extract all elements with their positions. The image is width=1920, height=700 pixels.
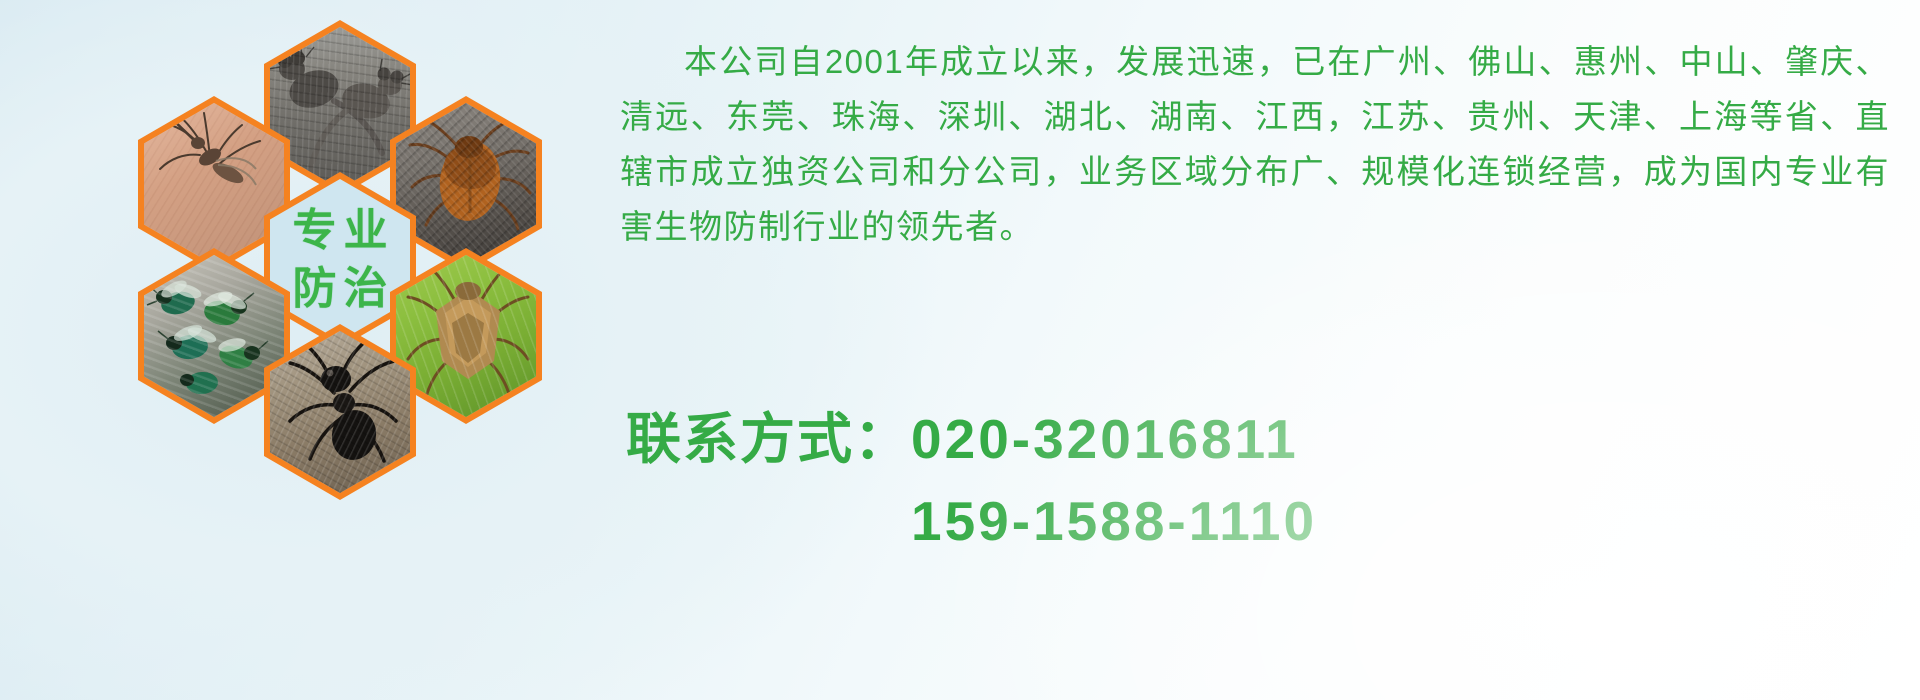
ant-photo: [270, 331, 410, 493]
intro-copy-block: 本公司自2001年成立以来，发展迅速，已在广州、佛山、惠州、中山、肇庆、清远、东…: [620, 34, 1890, 254]
leaf-texture: [396, 255, 536, 417]
flies-texture: [144, 255, 284, 417]
honeycomb-photo-cluster: 专业 防治: [90, 8, 590, 568]
cockroach-photo: [396, 103, 536, 265]
hex-photo-inner: [270, 27, 410, 189]
contact-label: 联系方式：: [626, 408, 911, 470]
hex-photo-inner: [270, 331, 410, 493]
rats-texture: [270, 27, 410, 189]
contact-block: 联系方式：020-32016811 159-1588-1110: [626, 398, 1786, 562]
badge-text: 专业 防治: [270, 179, 410, 341]
soil-texture: [270, 331, 410, 493]
contact-phone-primary[interactable]: 020-32016811: [911, 408, 1299, 470]
contact-line-secondary: 159-1588-1110: [626, 480, 1786, 562]
badge-line-1: 专业: [286, 205, 395, 257]
hex-photo-inner: [144, 103, 284, 265]
stink-bug-photo: [396, 255, 536, 417]
contact-phone-secondary[interactable]: 159-1588-1110: [911, 490, 1317, 552]
concrete-texture: [396, 103, 536, 265]
hex-badge-inner: 专业 防治: [270, 179, 410, 341]
hex-photo-inner: [144, 255, 284, 417]
contact-line-primary: 联系方式：020-32016811: [626, 398, 1786, 480]
badge-line-2: 防治: [286, 263, 395, 315]
rats-photo: [270, 27, 410, 189]
flies-photo: [144, 255, 284, 417]
mosquito-icon: [144, 103, 284, 265]
intro-paragraph: 本公司自2001年成立以来，发展迅速，已在广州、佛山、惠州、中山、肇庆、清远、东…: [620, 34, 1890, 254]
promo-banner: 专业 防治: [0, 0, 1920, 700]
mosquito-photo: [144, 103, 284, 265]
hex-photo-inner: [396, 103, 536, 265]
hex-photo-inner: [396, 255, 536, 417]
